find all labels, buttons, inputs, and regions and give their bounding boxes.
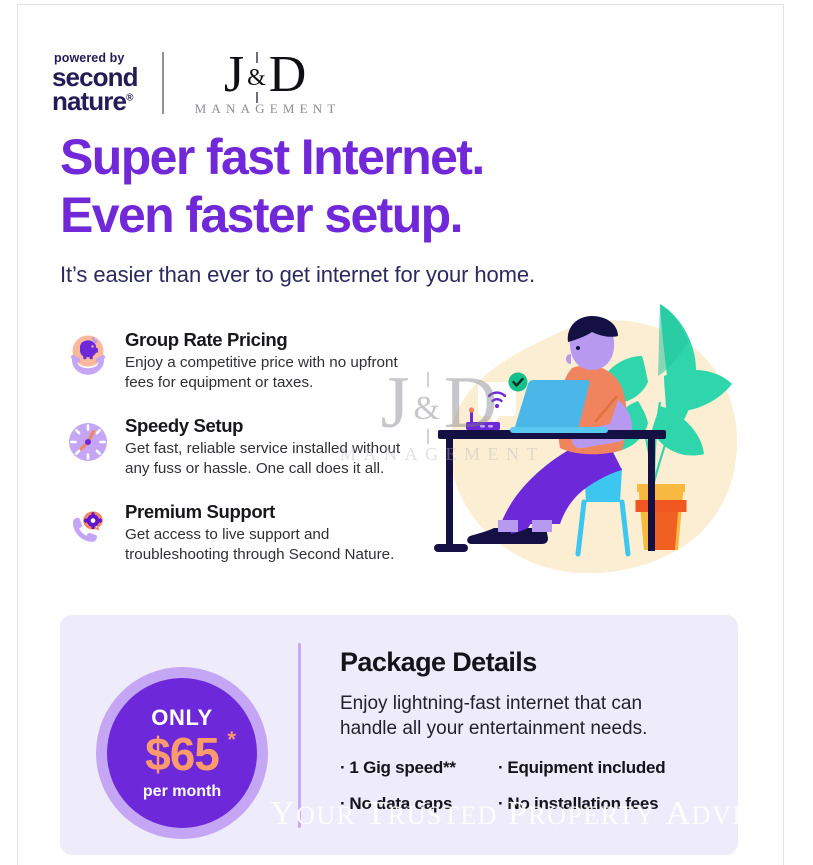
feature-text-group-rate-pricing: Group Rate Pricing Enjoy a competitive p… (125, 328, 422, 394)
feature-body: Enjoy a competitive price with no upfron… (125, 353, 422, 394)
headline-line-1: Super fast Internet. (60, 128, 700, 186)
price-asterisk: * (227, 729, 235, 751)
page-border-left (17, 4, 18, 865)
feature-item-premium-support: Premium Support Get access to live suppo… (62, 500, 422, 566)
brand-name-line2: nature® (52, 90, 138, 114)
package-title: Package Details (340, 647, 720, 678)
page-border-right (783, 4, 784, 865)
jd-monogram: J & D (224, 51, 306, 99)
feature-body: Get fast, reliable service installed wit… (125, 439, 422, 480)
price-badge-amount: $65* (145, 731, 219, 777)
bullet-dot-icon: · (340, 758, 345, 777)
package-feature-label: Equipment included (507, 758, 665, 777)
phone-support-gear-icon (62, 502, 114, 554)
feature-list: Group Rate Pricing Enjoy a competitive p… (62, 328, 422, 586)
feature-text-premium-support: Premium Support Get access to live suppo… (125, 500, 422, 566)
person-working-at-desk-with-laptop-illustration (432, 296, 772, 596)
price-badge-period: per month (143, 784, 221, 800)
headline-line-2: Even faster setup. (60, 186, 700, 244)
hero-headline: Super fast Internet. Even faster setup. (60, 128, 700, 244)
price-badge: ONLY $65* per month (96, 667, 268, 839)
jd-management-logo: J & D MANAGEMENT (190, 51, 341, 116)
package-feature-item: ·1 Gig speed** (340, 758, 498, 778)
registered-trademark-icon: ® (126, 93, 132, 104)
jd-ampersand: & (247, 67, 266, 89)
package-feature-label: No installation fees (507, 794, 658, 813)
clock-icon (62, 416, 114, 468)
price-badge-inner: ONLY $65* per month (107, 678, 257, 828)
feature-body: Get access to live support and troublesh… (125, 525, 422, 566)
bullet-dot-icon: · (340, 794, 345, 813)
flyer-page: powered by second nature® J & D MANAGEME… (0, 0, 813, 865)
package-feature-item: ·Equipment included (498, 758, 720, 778)
price-badge-only-label: ONLY (151, 707, 213, 729)
bullet-dot-icon: · (498, 758, 503, 777)
package-feature-label: No data caps (349, 794, 452, 813)
package-feature-item: ·No installation fees (498, 794, 720, 814)
feature-item-group-rate-pricing: Group Rate Pricing Enjoy a competitive p… (62, 328, 422, 394)
package-feature-item: ·No data caps (340, 794, 498, 814)
logo-row: powered by second nature® J & D MANAGEME… (52, 48, 341, 118)
page-border-top (17, 4, 783, 5)
second-nature-logo: powered by second nature® (52, 52, 138, 114)
feature-title: Premium Support (125, 500, 422, 523)
feature-text-speedy-setup: Speedy Setup Get fast, reliable service … (125, 414, 422, 480)
card-vertical-divider (298, 643, 301, 828)
feature-title: Speedy Setup (125, 414, 422, 437)
hero-subheadline: It’s easier than ever to get internet fo… (60, 262, 535, 288)
package-feature-label: 1 Gig speed** (349, 758, 455, 777)
package-description: Enjoy lightning-fast internet that can h… (340, 691, 690, 742)
piggy-bank-in-hands-icon (62, 330, 114, 382)
package-body: Package Details Enjoy lightning-fast int… (340, 647, 720, 814)
package-details-card: ONLY $65* per month Package Details Enjo… (60, 615, 738, 855)
package-feature-grid: ·1 Gig speed** ·Equipment included ·No d… (340, 758, 720, 814)
logo-divider (162, 52, 164, 114)
feature-item-speedy-setup: Speedy Setup Get fast, reliable service … (62, 414, 422, 480)
bullet-dot-icon: · (498, 794, 503, 813)
jd-letter-j: J (224, 51, 244, 99)
jd-letter-d: D (269, 51, 307, 99)
feature-title: Group Rate Pricing (125, 328, 422, 351)
jd-subtitle: MANAGEMENT (195, 102, 341, 115)
